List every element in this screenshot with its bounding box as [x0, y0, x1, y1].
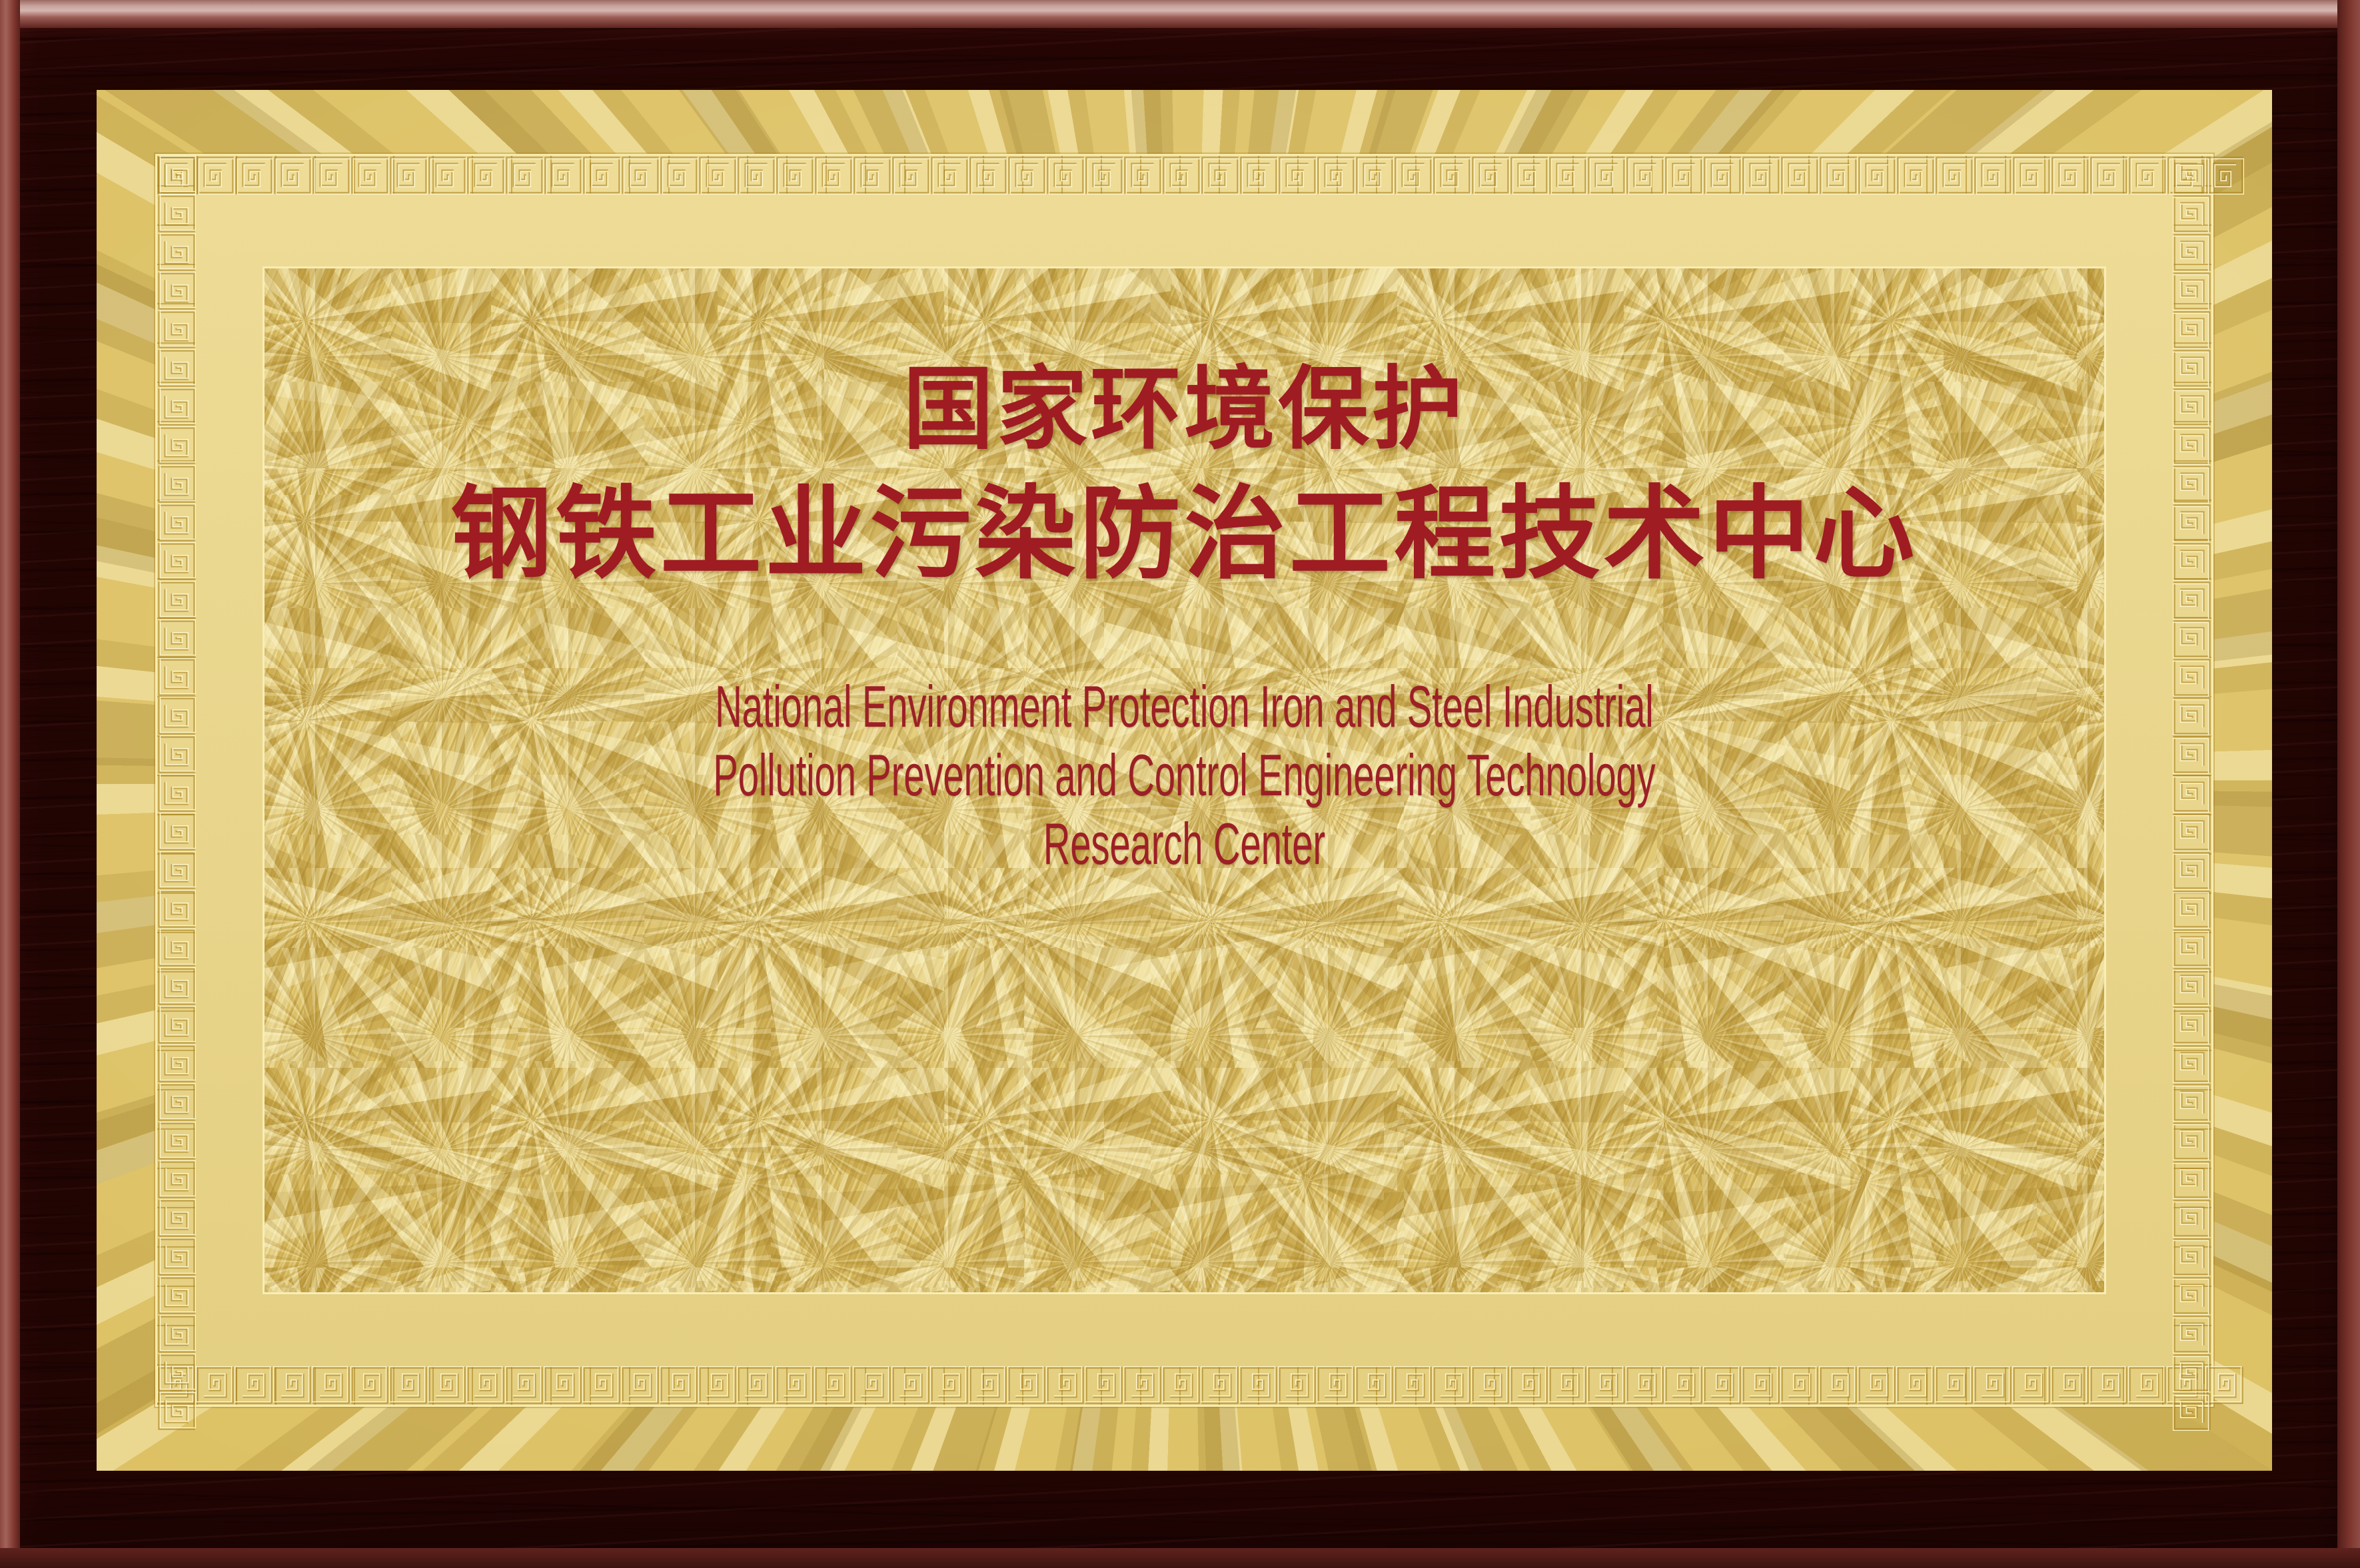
meander-tile — [1201, 156, 1239, 195]
meander-tile — [2173, 233, 2211, 272]
meander-tile — [235, 1366, 273, 1405]
meander-tile — [2173, 388, 2211, 426]
meander-tile — [1742, 1366, 1780, 1405]
meander-tile — [157, 426, 196, 465]
meander-tile — [157, 1122, 196, 1160]
meander-tile — [2128, 156, 2167, 195]
meander-border: 国家环境保护 钢铁工业污染防治工程技术中心 National Environme… — [155, 154, 2213, 1407]
plaque-text-block: 国家环境保护 钢铁工业污染防治工程技术中心 National Environme… — [265, 268, 2104, 1292]
meander-tile — [2173, 195, 2211, 233]
meander-tile — [196, 156, 235, 195]
meander-tile — [2051, 1366, 2089, 1405]
meander-row-bottom — [157, 1366, 2211, 1405]
meander-tile — [2173, 1315, 2211, 1354]
meander-tile — [2173, 1354, 2211, 1392]
meander-tile — [350, 1366, 389, 1405]
meander-tile — [1278, 1366, 1317, 1405]
meander-tile — [969, 156, 1007, 195]
meander-tile — [273, 1366, 312, 1405]
meander-tile — [544, 1366, 582, 1405]
meander-tile — [1935, 156, 1974, 195]
meander-tile — [2173, 426, 2211, 465]
meander-tile — [1510, 1366, 1548, 1405]
meander-tile — [2173, 890, 2211, 929]
meander-tile — [157, 1199, 196, 1238]
meander-tile — [1896, 1366, 1935, 1405]
meander-tile — [1780, 1366, 1819, 1405]
meander-tile — [853, 1366, 891, 1405]
meander-tile — [814, 1366, 853, 1405]
meander-tile — [428, 1366, 466, 1405]
meander-tile — [505, 1366, 544, 1405]
meander-tile — [1780, 156, 1819, 195]
meander-tile — [2173, 581, 2211, 619]
meander-tile — [1471, 1366, 1510, 1405]
meander-tile — [2173, 1199, 2211, 1238]
meander-tile — [157, 813, 196, 851]
meander-col-left — [157, 156, 196, 1405]
meander-row-top — [157, 156, 2211, 195]
meander-tile — [157, 890, 196, 929]
meander-tile — [2173, 619, 2211, 658]
meander-tile — [1355, 156, 1394, 195]
meander-tile — [2012, 1366, 2051, 1405]
meander-tile — [157, 233, 196, 272]
meander-tile — [389, 156, 428, 195]
meander-tile — [1858, 156, 1896, 195]
meander-tile — [2173, 813, 2211, 851]
english-title-line-2: Pollution Prevention and Control Enginee… — [290, 741, 2079, 810]
meander-tile — [2051, 156, 2089, 195]
meander-tile — [1664, 156, 1703, 195]
meander-tile — [2173, 349, 2211, 388]
meander-tile — [157, 1160, 196, 1199]
meander-tile — [1587, 156, 1626, 195]
meander-tile — [660, 156, 698, 195]
meander-tile — [2089, 156, 2128, 195]
meander-tile — [157, 465, 196, 504]
meander-tile — [2173, 1238, 2211, 1276]
meander-tile — [1703, 1366, 1742, 1405]
meander-tile — [466, 1366, 505, 1405]
meander-tile — [1433, 1366, 1471, 1405]
meander-tile — [1162, 1366, 1201, 1405]
meander-tile — [1162, 156, 1201, 195]
meander-tile — [2173, 735, 2211, 774]
meander-tile — [891, 156, 930, 195]
meander-tile — [969, 1366, 1007, 1405]
meander-tile — [157, 349, 196, 388]
meander-tile — [1703, 156, 1742, 195]
meander-tile — [196, 1366, 235, 1405]
meander-tile — [1510, 156, 1548, 195]
chinese-title-line-1: 国家环境保护 — [903, 362, 1466, 458]
frame-bevel-left — [0, 0, 20, 1568]
meander-tile — [157, 195, 196, 233]
meander-tile — [1587, 1366, 1626, 1405]
award-plaque: 国家环境保护 钢铁工业污染防治工程技术中心 National Environme… — [0, 0, 2360, 1568]
meander-tile — [2173, 542, 2211, 581]
meander-tile — [1201, 1366, 1239, 1405]
meander-tile — [621, 1366, 660, 1405]
meander-tile — [157, 929, 196, 967]
meander-tile — [2173, 1392, 2211, 1431]
meander-tile — [2173, 1160, 2211, 1199]
frame-bevel-right — [2337, 0, 2360, 1568]
plate-inner-field: 国家环境保护 钢铁工业污染防治工程技术中心 National Environme… — [263, 266, 2106, 1294]
meander-tile — [312, 1366, 350, 1405]
meander-tile — [1433, 156, 1471, 195]
meander-tile — [428, 156, 466, 195]
meander-tile — [157, 1006, 196, 1044]
meander-tile — [1317, 156, 1355, 195]
meander-tile — [2173, 1276, 2211, 1315]
meander-tile — [1819, 1366, 1858, 1405]
meander-tile — [466, 156, 505, 195]
meander-tile — [737, 1366, 776, 1405]
meander-tile — [1394, 1366, 1433, 1405]
meander-tile — [157, 542, 196, 581]
meander-tile — [1974, 1366, 2012, 1405]
meander-tile — [2012, 156, 2051, 195]
meander-tile — [1935, 1366, 1974, 1405]
meander-tile — [582, 1366, 621, 1405]
meander-tile — [1123, 156, 1162, 195]
meander-tile — [698, 156, 737, 195]
meander-tile — [1858, 1366, 1896, 1405]
meander-tile — [1548, 156, 1587, 195]
meander-tile — [853, 156, 891, 195]
meander-tile — [2173, 272, 2211, 310]
meander-tile — [350, 156, 389, 195]
meander-tile — [660, 1366, 698, 1405]
meander-tile — [930, 1366, 969, 1405]
meander-tile — [1471, 156, 1510, 195]
meander-tile — [1007, 156, 1046, 195]
meander-tile — [1239, 1366, 1278, 1405]
meander-tile — [2173, 1122, 2211, 1160]
meander-tile — [1123, 1366, 1162, 1405]
meander-tile — [1355, 1366, 1394, 1405]
meander-tile — [582, 156, 621, 195]
meander-tile — [157, 1238, 196, 1276]
meander-tile — [157, 658, 196, 697]
meander-tile — [1626, 156, 1664, 195]
meander-tile — [2128, 1366, 2167, 1405]
meander-tile — [2173, 967, 2211, 1006]
meander-tile — [1664, 1366, 1703, 1405]
meander-tile — [157, 1354, 196, 1392]
meander-tile — [2173, 1006, 2211, 1044]
meander-tile — [1046, 156, 1085, 195]
meander-tile — [157, 310, 196, 349]
gold-plate: 国家环境保护 钢铁工业污染防治工程技术中心 National Environme… — [97, 90, 2272, 1471]
meander-tile — [157, 851, 196, 890]
frame-bevel-top — [0, 0, 2360, 28]
meander-tile — [157, 388, 196, 426]
meander-tile — [157, 156, 196, 195]
meander-tile — [505, 156, 544, 195]
meander-tile — [1007, 1366, 1046, 1405]
meander-tile — [2173, 465, 2211, 504]
meander-tile — [157, 504, 196, 542]
english-title-line-1: National Environment Protection Iron and… — [290, 673, 2079, 741]
meander-tile — [273, 156, 312, 195]
meander-tile — [1085, 1366, 1123, 1405]
meander-tile — [235, 156, 273, 195]
meander-tile — [1896, 156, 1935, 195]
meander-tile — [621, 156, 660, 195]
meander-tile — [157, 619, 196, 658]
meander-tile — [2173, 156, 2211, 195]
meander-tile — [312, 156, 350, 195]
meander-tile — [157, 774, 196, 813]
meander-tile — [2173, 1044, 2211, 1083]
meander-tile — [930, 156, 969, 195]
meander-tile — [776, 1366, 814, 1405]
meander-tile — [2089, 1366, 2128, 1405]
meander-tile — [2173, 1083, 2211, 1122]
meander-tile — [1394, 156, 1433, 195]
meander-tile — [1278, 156, 1317, 195]
english-title-line-3: Research Center — [290, 810, 2079, 879]
meander-tile — [814, 156, 853, 195]
meander-tile — [2173, 310, 2211, 349]
meander-tile — [2173, 697, 2211, 735]
meander-tile — [157, 1083, 196, 1122]
meander-tile — [2173, 658, 2211, 697]
meander-tile — [2173, 504, 2211, 542]
meander-tile — [157, 1044, 196, 1083]
meander-tile — [698, 1366, 737, 1405]
meander-tile — [776, 156, 814, 195]
meander-tile — [1317, 1366, 1355, 1405]
chinese-title-line-2: 钢铁工业污染防治工程技术中心 — [450, 480, 1918, 588]
meander-tile — [1626, 1366, 1664, 1405]
meander-tile — [157, 1315, 196, 1354]
meander-tile — [1085, 156, 1123, 195]
meander-tile — [157, 735, 196, 774]
meander-tile — [1239, 156, 1278, 195]
meander-tile — [157, 697, 196, 735]
meander-tile — [1819, 156, 1858, 195]
meander-tile — [157, 967, 196, 1006]
english-title-block: National Environment Protection Iron and… — [290, 673, 2079, 879]
meander-tile — [2173, 774, 2211, 813]
meander-tile — [1548, 1366, 1587, 1405]
meander-tile — [1974, 156, 2012, 195]
meander-tile — [891, 1366, 930, 1405]
meander-tile — [157, 581, 196, 619]
meander-tile — [2173, 851, 2211, 890]
meander-tile — [1742, 156, 1780, 195]
meander-tile — [2173, 929, 2211, 967]
meander-tile — [157, 272, 196, 310]
meander-tile — [737, 156, 776, 195]
meander-tile — [157, 1392, 196, 1431]
meander-tile — [157, 1276, 196, 1315]
meander-tile — [544, 156, 582, 195]
meander-tile — [389, 1366, 428, 1405]
meander-col-right — [2173, 156, 2211, 1405]
meander-tile — [1046, 1366, 1085, 1405]
frame-bevel-bottom — [0, 1548, 2360, 1568]
